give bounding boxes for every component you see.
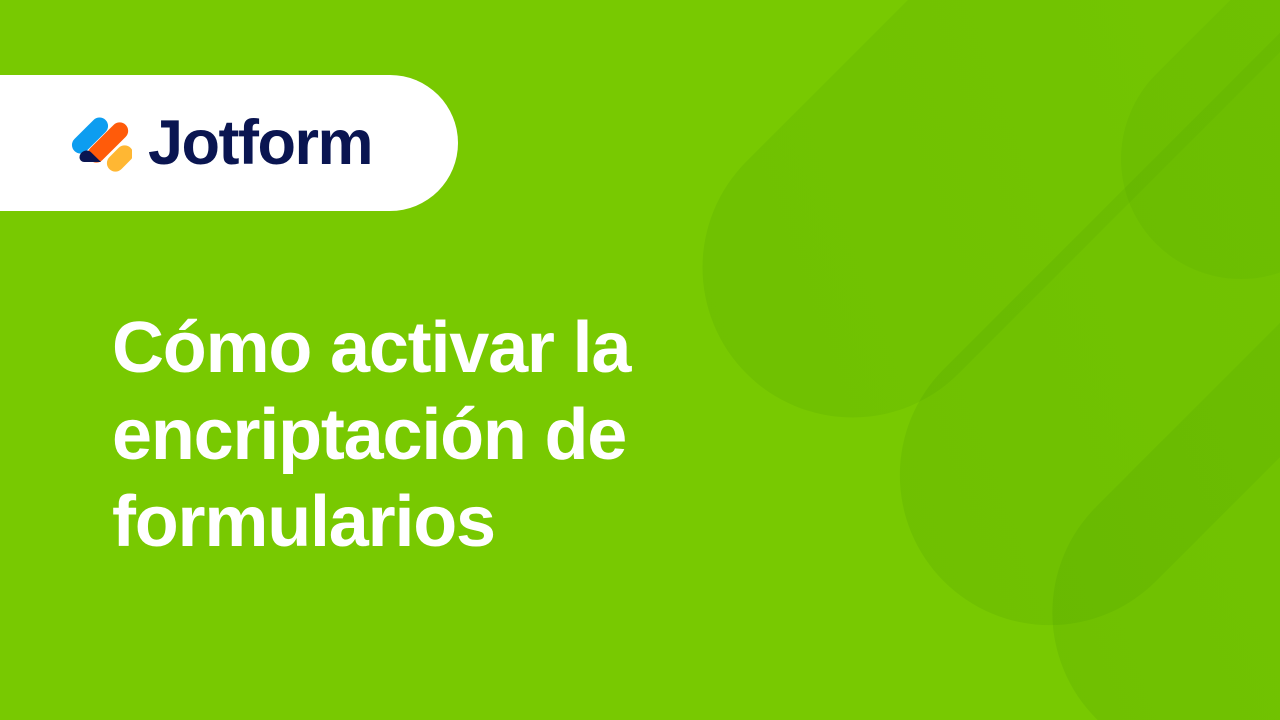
page-title-line-3: formularios: [112, 479, 772, 566]
diagonal-capsule-4-icon: [1071, 0, 1280, 329]
jotform-logo-mark-icon: [70, 112, 132, 174]
jotform-wordmark: Jotform: [148, 112, 372, 175]
diagonal-capsule-3-icon: [990, 75, 1280, 720]
title-card: Jotform Cómo activar la encriptación de …: [0, 0, 1280, 720]
page-title: Cómo activar la encriptación de formular…: [112, 305, 772, 566]
brand-logo-pill: Jotform: [0, 75, 458, 211]
page-title-line-2: encriptación de: [112, 392, 772, 479]
diagonal-capsule-2-icon: [838, 0, 1280, 687]
page-title-line-1: Cómo activar la: [112, 305, 772, 392]
